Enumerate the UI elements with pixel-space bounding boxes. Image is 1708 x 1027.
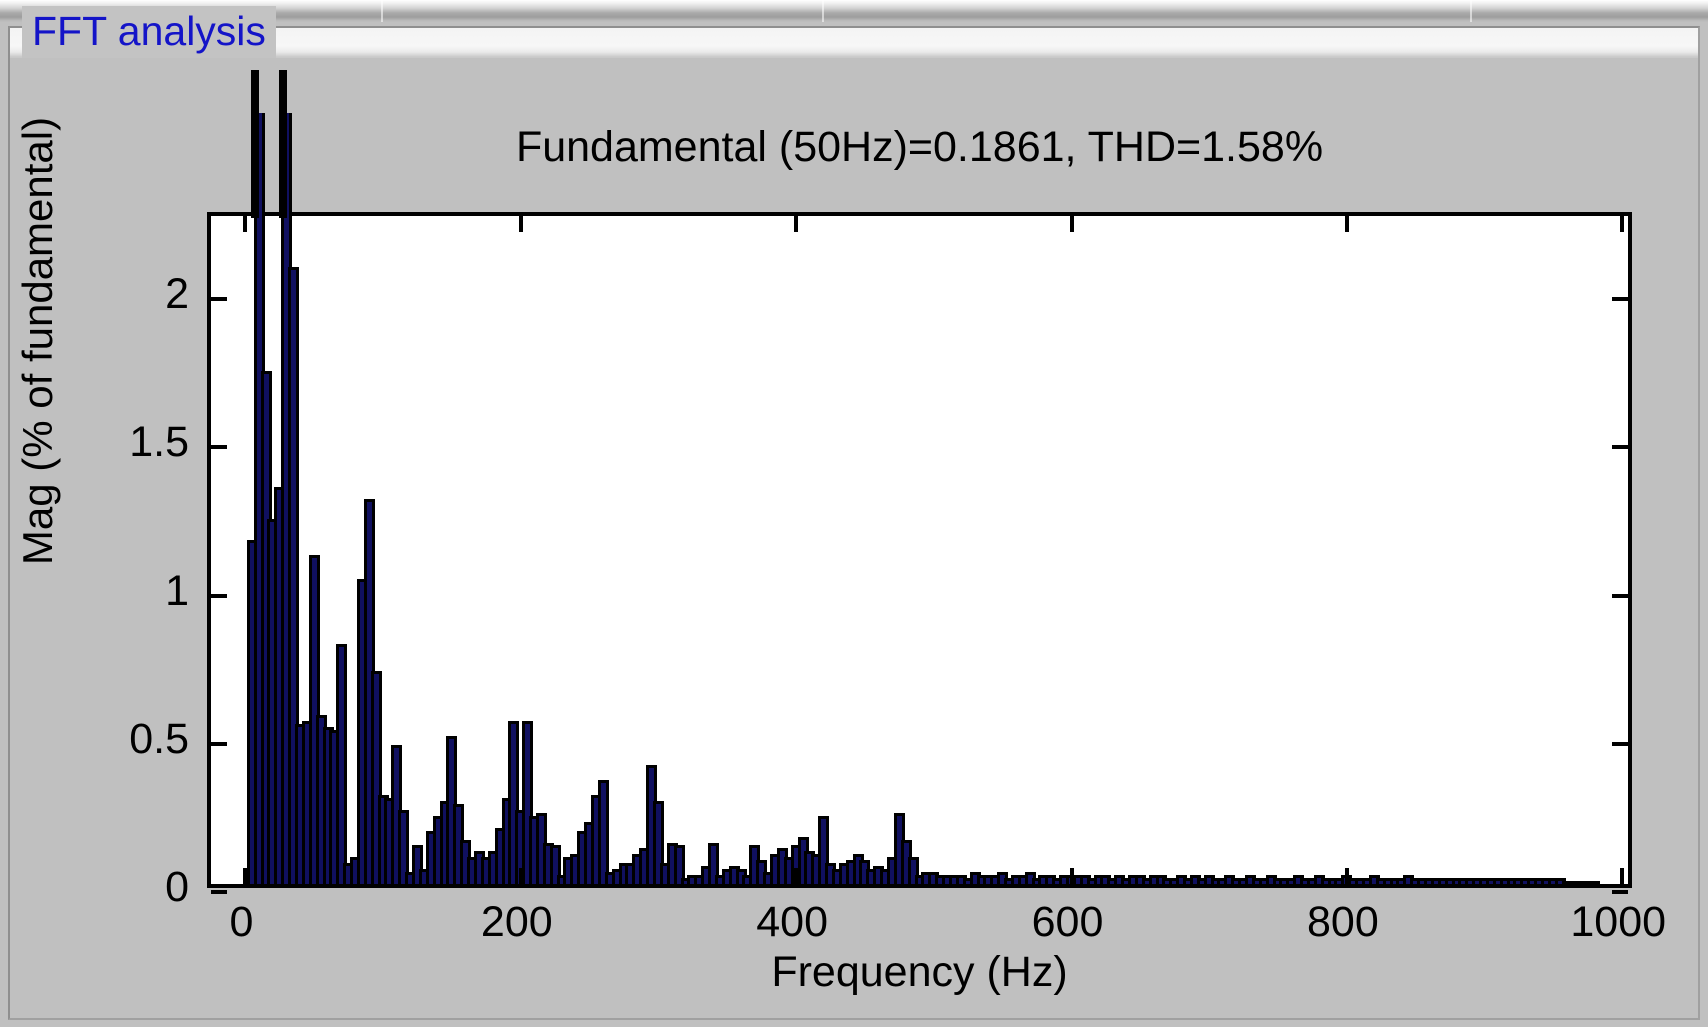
y-tick-label: 1 — [0, 570, 189, 613]
x-tick-mark — [1345, 216, 1349, 232]
y-tick-mark — [211, 742, 227, 746]
x-axis-label: Frequency (Hz) — [207, 948, 1632, 996]
x-tick-mark — [519, 868, 523, 884]
y-tick-mark — [1612, 742, 1628, 746]
plot-axes — [207, 212, 1632, 888]
y-tick-label: 0 — [0, 866, 189, 909]
y-tick-mark — [211, 445, 227, 449]
x-tick-label: 0 — [229, 898, 253, 946]
bar-overflow — [251, 70, 259, 218]
x-tick-mark — [519, 216, 523, 232]
x-tick-mark — [1620, 868, 1624, 884]
x-tick-mark — [243, 868, 247, 884]
y-tick-mark — [1612, 297, 1628, 301]
fft-plot: Fundamental (50Hz)=0.1861, THD=1.58% Mag… — [0, 0, 1708, 1027]
x-tick-mark — [1070, 868, 1074, 884]
fft-analysis-window: FFT analysis Fundamental (50Hz)=0.1861, … — [0, 0, 1708, 1027]
y-tick-mark — [1612, 445, 1628, 449]
y-tick-label: 1.5 — [0, 421, 189, 464]
y-tick-mark — [211, 297, 227, 301]
x-tick-mark — [794, 868, 798, 884]
x-tick-label: 400 — [756, 898, 828, 946]
y-tick-label: 2 — [0, 273, 189, 316]
y-tick-mark — [211, 890, 227, 894]
x-tick-label: 1000 — [1570, 898, 1666, 946]
panel-legend-label: FFT analysis — [22, 6, 276, 58]
bar — [598, 780, 609, 884]
x-tick-label: 800 — [1307, 898, 1379, 946]
x-tick-mark — [794, 216, 798, 232]
x-tick-mark — [1070, 216, 1074, 232]
y-tick-mark — [1612, 594, 1628, 598]
bar — [1589, 881, 1600, 884]
bar-series — [211, 216, 1628, 884]
y-tick-mark — [211, 594, 227, 598]
bar-overflow — [279, 70, 287, 218]
x-tick-mark — [243, 216, 247, 232]
chart-title: Fundamental (50Hz)=0.1861, THD=1.58% — [207, 122, 1632, 172]
x-tick-mark — [1620, 216, 1624, 232]
x-tick-label: 200 — [481, 898, 553, 946]
x-tick-label: 600 — [1032, 898, 1104, 946]
y-tick-mark — [1612, 890, 1628, 894]
bar — [336, 644, 347, 884]
y-tick-label: 0.5 — [0, 718, 189, 761]
x-tick-mark — [1345, 868, 1349, 884]
